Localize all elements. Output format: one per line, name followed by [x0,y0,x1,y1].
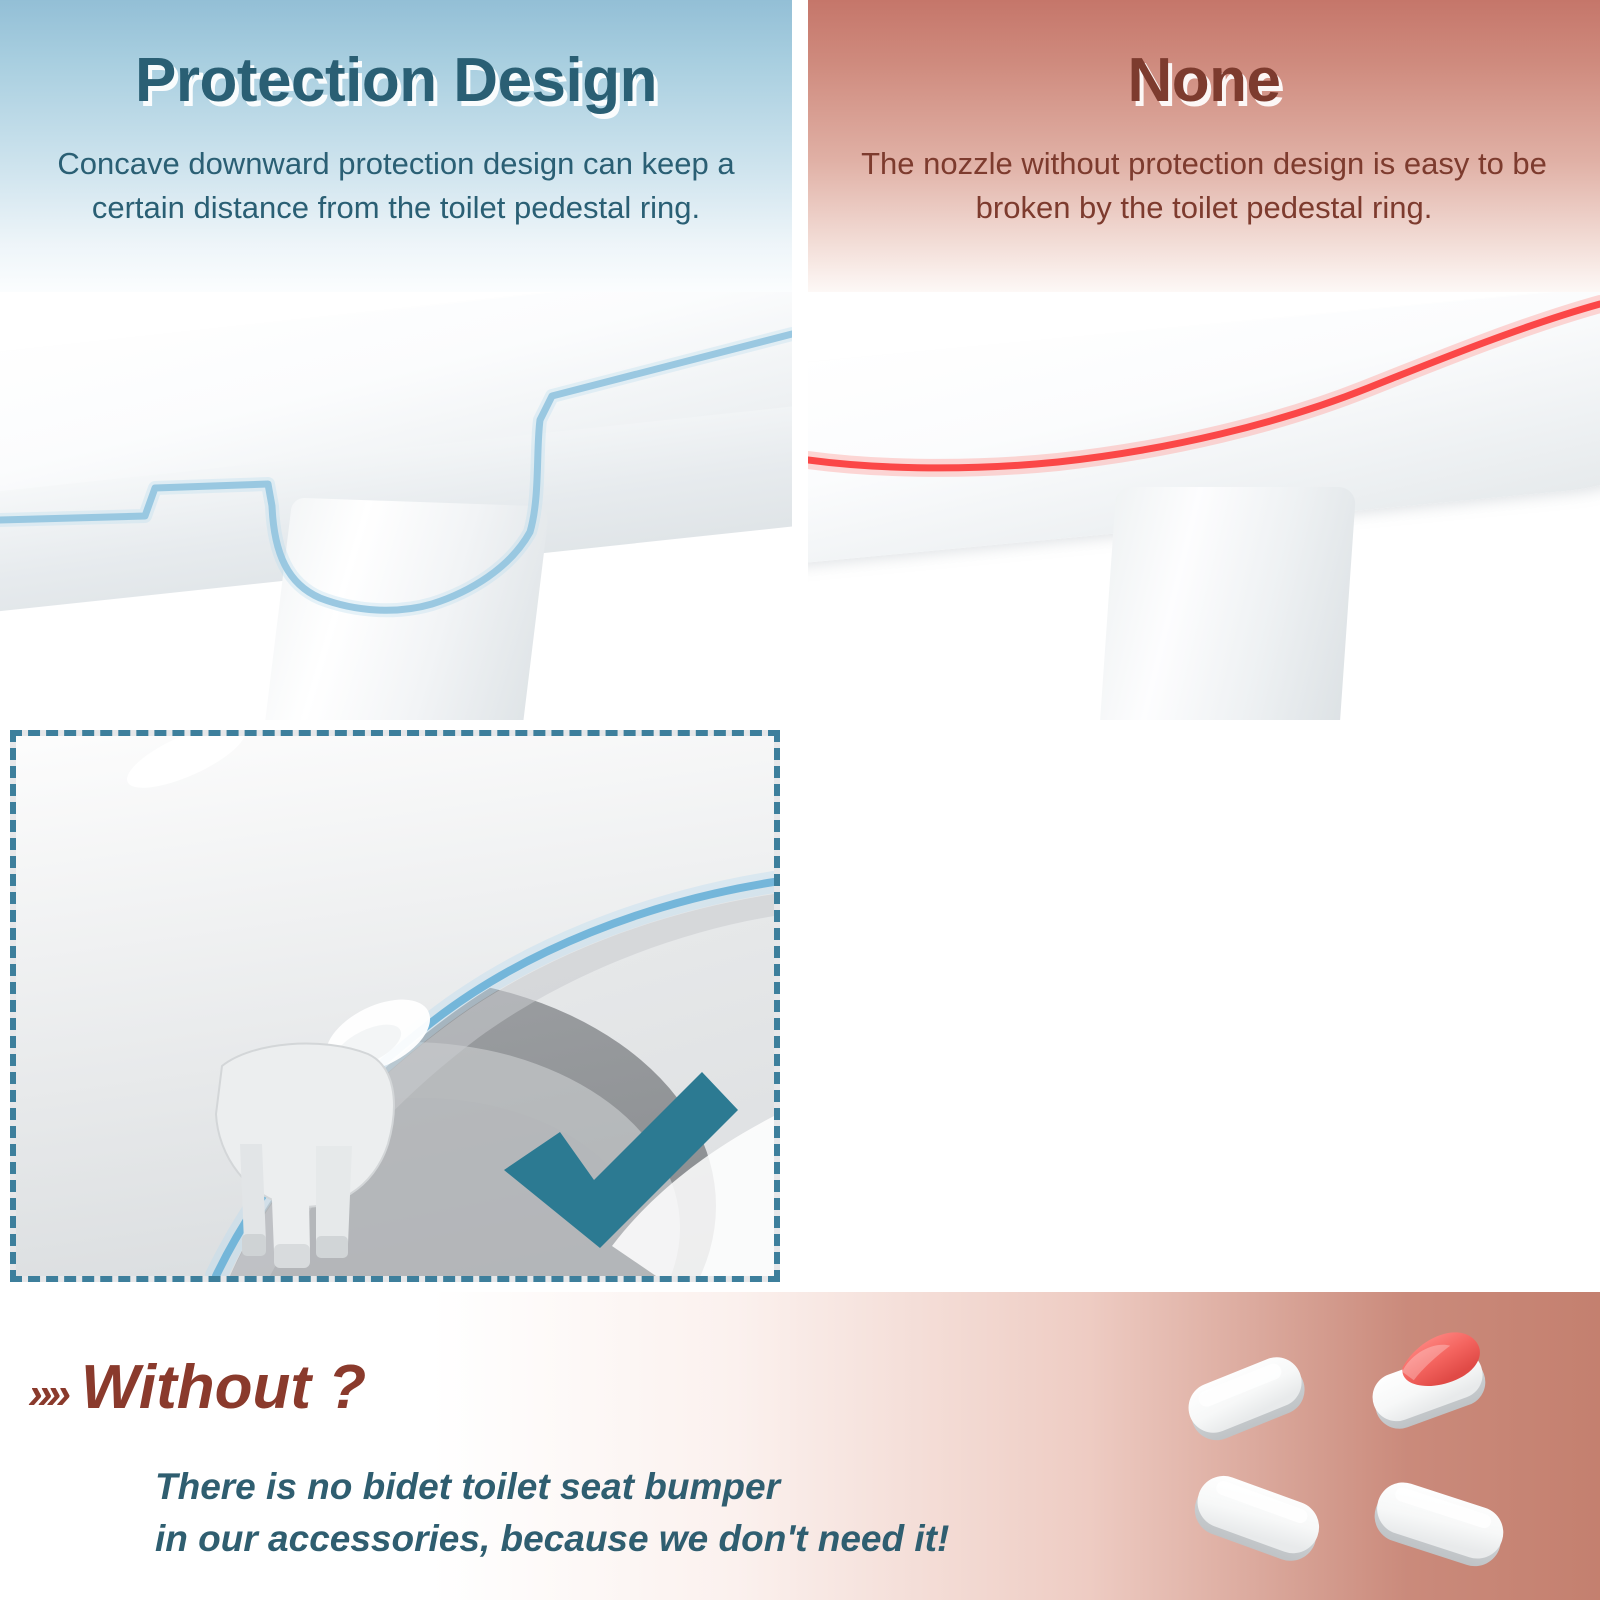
pedestal-left [264,498,549,720]
comparison-row: Protection Design Concave downward prote… [0,0,1600,1292]
without-heading: Without ? [81,1352,366,1423]
bumper-pads-illustration [1180,1318,1580,1598]
bumper-pad [1181,1350,1312,1448]
chevrons-icon: »» [28,1369,65,1419]
infographic-root: Protection Design Concave downward prote… [0,0,1600,1600]
without-heading-row: »» Without ? [28,1352,366,1423]
right-panel-title: None [808,50,1600,112]
left-panel-title: Protection Design [0,50,792,112]
check-icon [486,1066,746,1256]
bumper-pad [1368,1476,1510,1573]
bumper-pad-highlight [1359,1324,1496,1436]
right-header: None The nozzle without protection desig… [808,0,1600,292]
without-subtext-line1: There is no bidet toilet seat bumper [155,1466,780,1508]
left-bowl-photo [10,730,780,1282]
without-subtext-line2: in our accessories, because we don't nee… [155,1518,949,1560]
right-seat-profile-photo [808,292,1600,720]
bumper-pad [1187,1469,1326,1568]
left-panel-description: Concave downward protection design can k… [0,142,792,230]
left-header: Protection Design Concave downward prote… [0,0,792,292]
left-comparison-panel: Protection Design Concave downward prote… [0,0,792,1292]
left-seat-profile-photo [0,292,792,720]
right-panel-description: The nozzle without protection design is … [808,142,1600,230]
right-comparison-panel: None The nozzle without protection desig… [808,0,1600,1292]
pedestal-right [1100,487,1357,720]
